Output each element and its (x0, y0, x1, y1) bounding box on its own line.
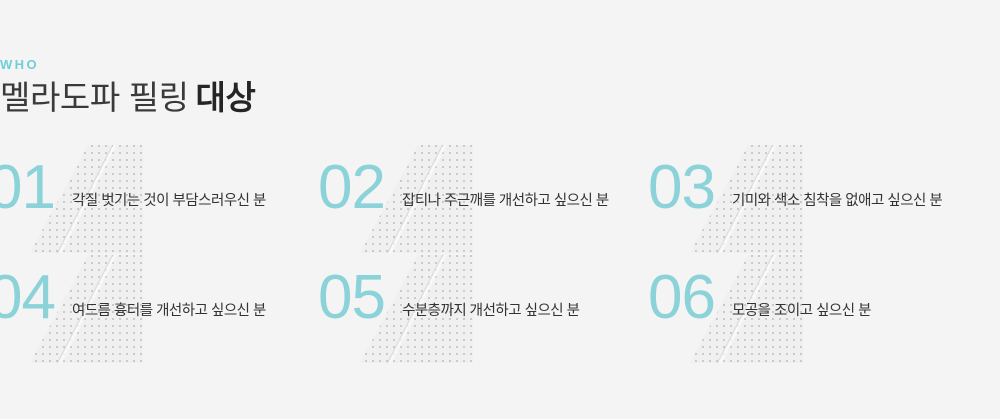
page-title: 멜라도파 필링대상 (0, 80, 620, 116)
page-title-light-part: 멜라도파 필링 (0, 79, 189, 116)
list-item: 04 여드름 흉터를 개선하고 싶으신 분 (0, 255, 330, 365)
list-item: 05 수분층까지 개선하고 싶으신 분 (330, 255, 660, 365)
list-item: 03 기미와 색소 침착을 없애고 싶으신 분 (660, 145, 990, 255)
target-items-row: 04 여드름 흉터를 개선하고 싶으신 분 05 수분층까지 개선하고 싶으신 … (0, 255, 1000, 365)
target-items-row: 01 각질 벗기는 것이 부담스러우신 분 02 잡티나 주근깨를 개선하고 싶… (0, 145, 1000, 255)
section-eyebrow-label: WHO (0, 58, 620, 71)
list-item-label: 각질 벗기는 것이 부담스러우신 분 (72, 192, 330, 211)
who-target-section: WHO 멜라도파 필링대상 01 각질 벗기는 것이 부담스러우신 분 02 (0, 0, 1000, 419)
target-items-grid: 01 각질 벗기는 것이 부담스러우신 분 02 잡티나 주근깨를 개선하고 싶… (0, 140, 1000, 372)
list-item: 02 잡티나 주근깨를 개선하고 싶으신 분 (330, 145, 660, 255)
list-item-label: 기미와 색소 침착을 없애고 싶으신 분 (732, 192, 990, 211)
list-item-label: 여드름 흉터를 개선하고 싶으신 분 (72, 302, 330, 321)
list-item-label: 잡티나 주근깨를 개선하고 싶으신 분 (402, 192, 660, 211)
list-item-label: 모공을 조이고 싶으신 분 (732, 302, 990, 321)
list-item: 06 모공을 조이고 싶으신 분 (660, 255, 990, 365)
list-item-label: 수분층까지 개선하고 싶으신 분 (402, 302, 660, 321)
page-title-strong-part: 대상 (196, 79, 256, 116)
list-item: 01 각질 벗기는 것이 부담스러우신 분 (0, 145, 330, 255)
section-header: WHO 멜라도파 필링대상 (0, 58, 620, 116)
